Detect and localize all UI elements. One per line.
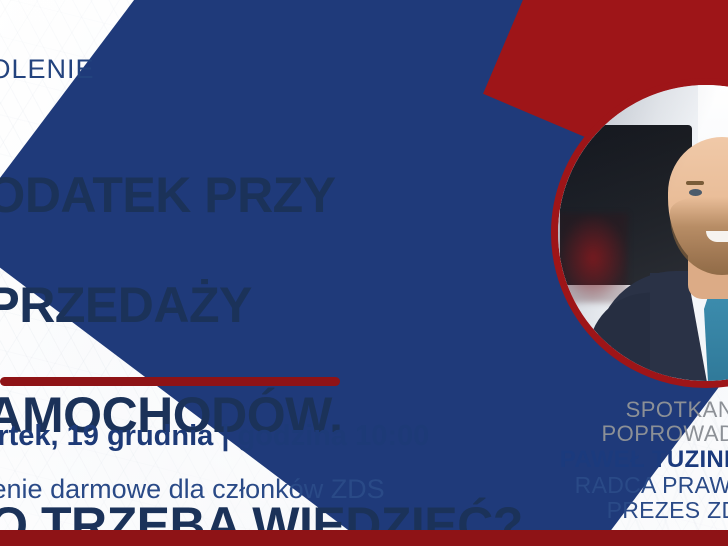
event-kicker: SZKOLENIE xyxy=(0,54,95,85)
speaker-role-primary: RADCA PRAWNY xyxy=(575,472,728,499)
headline-line-1: PODATEK PRZY xyxy=(0,167,336,223)
event-price-note: szkolenie darmowe dla członków ZDS xyxy=(0,474,385,505)
speaker-name: PAWEŁ TUZINEK xyxy=(560,446,728,474)
speaker-intro-line-1: SPOTKANIE xyxy=(626,397,728,422)
bottom-red-bar xyxy=(0,530,728,546)
speaker-intro-label: SPOTKANIE POPROWADZI xyxy=(601,398,728,446)
headline-line-2: SPRZEDAŻY xyxy=(0,277,252,333)
speaker-role-secondary: PREZES ZDS xyxy=(607,497,728,524)
red-divider-rule xyxy=(0,377,340,386)
event-date-time: czwartek, 19 grudnia | godzina 10:00 xyxy=(0,420,429,453)
event-poster: SZKOLENIE PODATEK PRZY SPRZEDAŻY SAMOCHO… xyxy=(0,0,728,546)
speaker-intro-line-2: POPROWADZI xyxy=(601,421,728,446)
